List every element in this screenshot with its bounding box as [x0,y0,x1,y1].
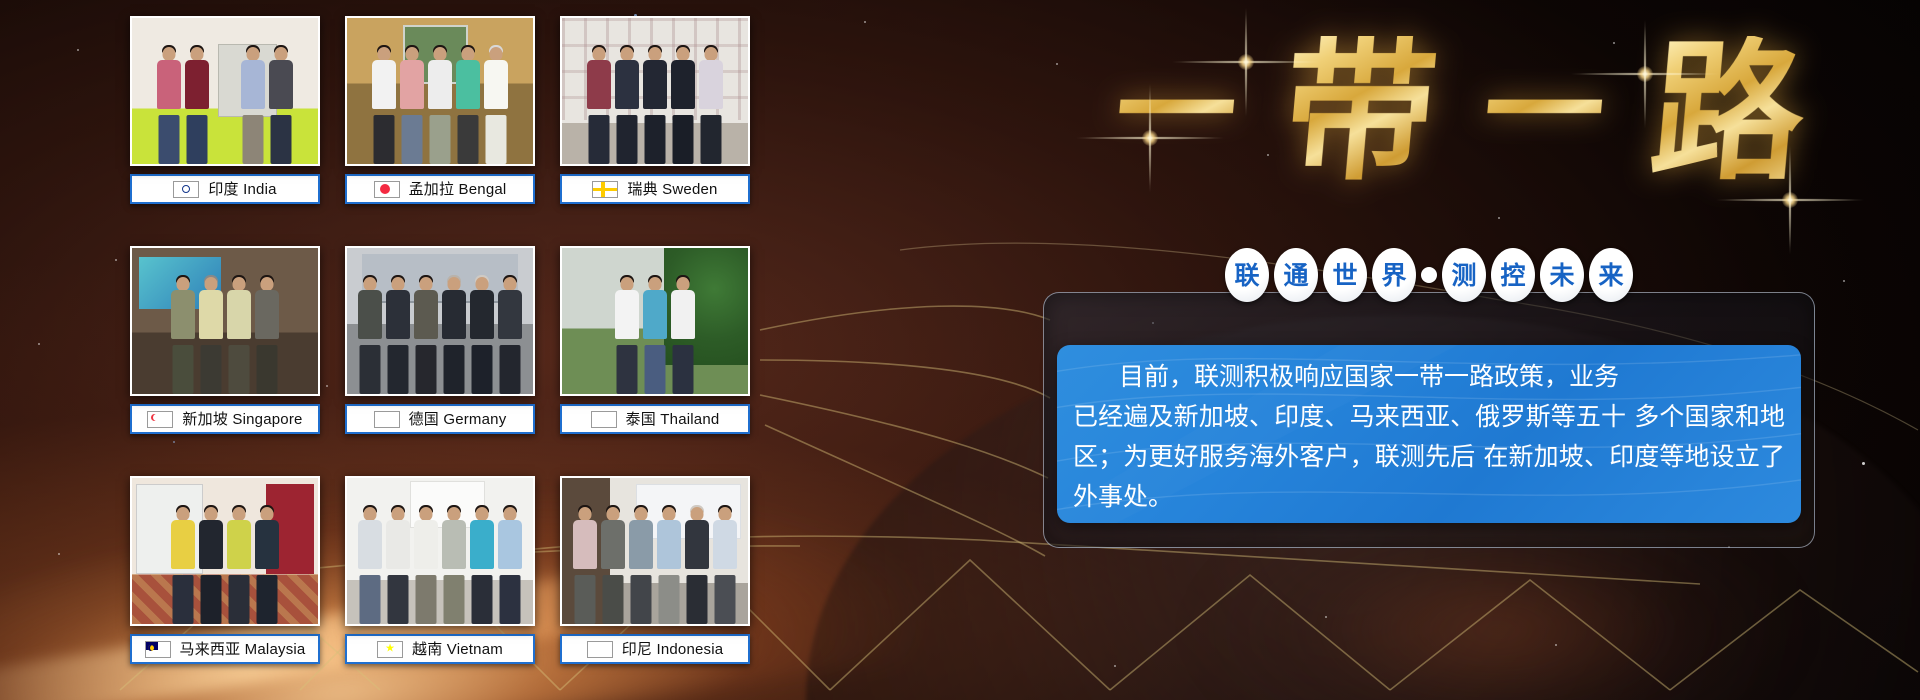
country-label: 泰国 Thailand [626,412,720,427]
description-line-2: 已经遍及新加坡、印度、马来西亚、俄罗斯等五十 [1073,402,1626,431]
grid-cell-india[interactable]: 印度 India [130,16,320,224]
germany-flag [374,411,400,428]
country-label: 新加坡 Singapore [182,412,302,427]
info-panel: 联 通 世 界 测 控 未 来 目前，联测积极响应国家一带一路政策，业务 [1043,292,1815,548]
banner-stage: 印度 India 孟加拉 Bengal [0,0,1920,700]
title-char-1: 一 [1111,52,1241,172]
slogan-char-6: 控 [1491,248,1535,302]
photo-indonesia [560,476,750,626]
description-line-5: 联测，为国产仪表正名，为中国制造加分！ [1073,517,1785,523]
grid-cell-indonesia[interactable]: 印尼 Indonesia [560,476,750,684]
label-vietnam: 越南 Vietnam [345,634,535,664]
photo-india [130,16,320,166]
photo-thailand [560,246,750,396]
title-char-4: 路 [1645,36,1810,188]
photo-singapore [130,246,320,396]
grid-cell-vietnam[interactable]: 越南 Vietnam [345,476,535,684]
slogan-separator-dot [1421,267,1437,283]
singapore-flag [147,411,173,428]
grid-cell-malaysia[interactable]: 马来西亚 Malaysia [130,476,320,684]
photo-malaysia [130,476,320,626]
banner-title: 一 带 一 路 [1020,8,1900,216]
slogan-char-3: 世 [1323,248,1367,302]
description-line-1: 目前，联测积极响应国家一带一路政策，业务 [1073,357,1785,397]
malaysia-flag [145,641,171,658]
indonesia-flag [587,641,613,658]
label-indonesia: 印尼 Indonesia [560,634,750,664]
country-label: 孟加拉 Bengal [409,182,507,197]
bangladesh-flag [374,181,400,198]
label-india: 印度 India [130,174,320,204]
country-label: 印度 India [208,182,276,197]
india-flag [173,181,199,198]
title-char-3: 一 [1479,52,1609,172]
title-char-2: 带 [1277,36,1442,188]
country-label: 越南 Vietnam [412,642,503,657]
slogan-char-2: 通 [1274,248,1318,302]
photo-bangladesh [345,16,535,166]
slogan-char-4: 界 [1372,248,1416,302]
slogan: 联 通 世 界 测 控 未 来 [1044,248,1814,302]
label-malaysia: 马来西亚 Malaysia [130,634,320,664]
label-bangladesh: 孟加拉 Bengal [345,174,535,204]
description-text: 目前，联测积极响应国家一带一路政策，业务 已经遍及新加坡、印度、马来西亚、俄罗斯… [1073,357,1785,523]
grid-cell-thailand[interactable]: 泰国 Thailand [560,246,750,454]
label-singapore: 新加坡 Singapore [130,404,320,434]
country-label: 德国 Germany [409,412,507,427]
label-sweden: 瑞典 Sweden [560,174,750,204]
slogan-char-1: 联 [1225,248,1269,302]
grid-cell-bangladesh[interactable]: 孟加拉 Bengal [345,16,535,224]
grid-cell-singapore[interactable]: 新加坡 Singapore [130,246,320,454]
country-label: 瑞典 Sweden [627,182,717,197]
slogan-char-5: 测 [1442,248,1486,302]
country-label: 印尼 Indonesia [622,642,724,657]
label-thailand: 泰国 Thailand [560,404,750,434]
grid-cell-germany[interactable]: 德国 Germany [345,246,535,454]
slogan-char-8: 来 [1589,248,1633,302]
description-box: 目前，联测积极响应国家一带一路政策，业务 已经遍及新加坡、印度、马来西亚、俄罗斯… [1057,345,1801,523]
sweden-flag [592,181,618,198]
photo-vietnam [345,476,535,626]
label-germany: 德国 Germany [345,404,535,434]
country-label: 马来西亚 Malaysia [180,642,306,657]
thailand-flag [591,411,617,428]
slogan-char-7: 未 [1540,248,1584,302]
photo-sweden [560,16,750,166]
photo-germany [345,246,535,396]
grid-cell-sweden[interactable]: 瑞典 Sweden [560,16,750,224]
vietnam-flag [377,641,403,658]
photo-grid: 印度 India 孟加拉 Bengal [130,16,770,684]
